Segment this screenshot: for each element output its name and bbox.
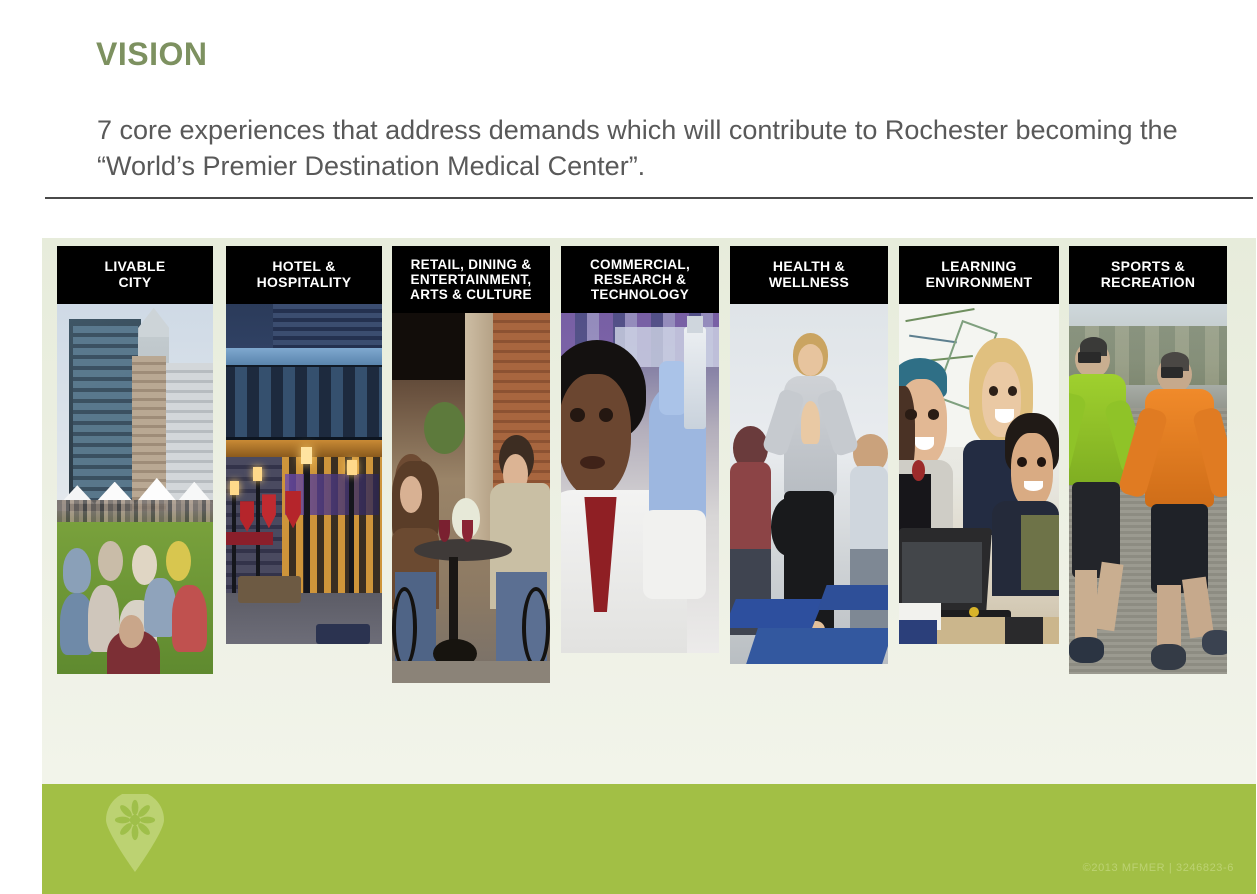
column-label-line: HOSPITALITY <box>257 275 352 291</box>
footer-band: ©2013 MFMER | 3246823-6 <box>42 784 1256 894</box>
column-label-line: RETAIL, DINING & <box>410 257 532 272</box>
column-label-line: LEARNING <box>926 259 1033 275</box>
page-subtitle: 7 core experiences that address demands … <box>97 112 1217 184</box>
column-header-commercial-research: COMMERCIAL, RESEARCH & TECHNOLOGY <box>561 246 719 313</box>
column-label-line: LIVABLE <box>105 259 166 275</box>
column-header-learning-environment: LEARNING ENVIRONMENT <box>899 246 1059 304</box>
experience-column-sports-recreation[interactable]: SPORTS & RECREATION <box>1069 246 1227 674</box>
column-label-line: ENVIRONMENT <box>926 275 1033 291</box>
slide: VISION 7 core experiences that address d… <box>0 0 1257 894</box>
column-photo-health-wellness <box>730 304 888 664</box>
column-photo-commercial-research <box>561 313 719 653</box>
column-label-line: HEALTH & <box>769 259 849 275</box>
column-label-line: RECREATION <box>1101 275 1196 291</box>
copyright-credit: ©2013 MFMER | 3246823-6 <box>1083 862 1234 874</box>
column-header-livable-city: LIVABLE CITY <box>57 246 213 304</box>
column-label-line: SPORTS & <box>1101 259 1196 275</box>
column-label-line: CITY <box>105 275 166 291</box>
column-photo-livable-city <box>57 304 213 674</box>
column-photo-hotel-hospitality <box>226 304 382 644</box>
column-photo-learning-environment <box>899 304 1059 644</box>
page-title: VISION <box>96 36 207 73</box>
experience-column-retail-dining[interactable]: RETAIL, DINING & ENTERTAINMENT, ARTS & C… <box>392 246 550 683</box>
experience-column-health-wellness[interactable]: HEALTH & WELLNESS <box>730 246 888 664</box>
column-photo-sports-recreation <box>1069 304 1227 674</box>
column-label-line: HOTEL & <box>257 259 352 275</box>
vision-panel: LIVABLE CITY <box>42 238 1256 894</box>
column-photo-retail-dining <box>392 313 550 683</box>
column-header-hotel-hospitality: HOTEL & HOSPITALITY <box>226 246 382 304</box>
column-label-line: COMMERCIAL, <box>590 257 690 272</box>
experience-column-commercial-research[interactable]: COMMERCIAL, RESEARCH & TECHNOLOGY <box>561 246 719 653</box>
column-label-line: RESEARCH & <box>590 272 690 287</box>
destination-medical-center-pin-logo <box>104 794 166 872</box>
experience-column-hotel-hospitality[interactable]: HOTEL & HOSPITALITY <box>226 246 382 644</box>
experience-column-livable-city[interactable]: LIVABLE CITY <box>57 246 213 674</box>
column-label-line: ENTERTAINMENT, <box>410 272 532 287</box>
column-label-line: TECHNOLOGY <box>590 287 690 302</box>
column-label-line: ARTS & CULTURE <box>410 287 532 302</box>
column-header-sports-recreation: SPORTS & RECREATION <box>1069 246 1227 304</box>
experience-column-learning-environment[interactable]: LEARNING ENVIRONMENT <box>899 246 1059 644</box>
column-label-line: WELLNESS <box>769 275 849 291</box>
column-header-retail-dining: RETAIL, DINING & ENTERTAINMENT, ARTS & C… <box>392 246 550 313</box>
column-header-health-wellness: HEALTH & WELLNESS <box>730 246 888 304</box>
header-divider <box>45 197 1253 199</box>
